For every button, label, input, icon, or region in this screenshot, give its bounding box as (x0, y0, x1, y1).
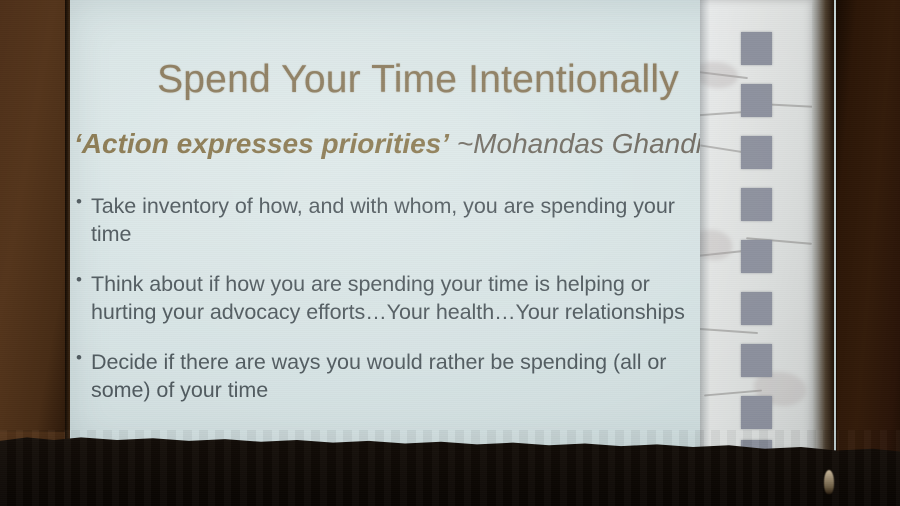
wall-panel-with-tiles (700, 0, 814, 452)
panel-tile (741, 136, 772, 169)
left-wall (0, 0, 70, 506)
bullet-item: Think about if how you are spending your… (76, 270, 716, 327)
subtitle-quote: ‘Action expresses priorities’ (74, 128, 449, 159)
panel-left-shadow (700, 0, 710, 452)
slide-bullet-list: Take inventory of how, and with whom, yo… (76, 192, 716, 425)
photo-scene: Spend Your Time Intentionally ‘Action ex… (0, 0, 900, 506)
slide-subtitle: ‘Action expresses priorities’ ~Mohandas … (74, 128, 794, 160)
panel-tile (741, 84, 772, 117)
slide-title: Spend Your Time Intentionally (68, 58, 768, 102)
panel-tile (741, 32, 772, 65)
bullet-item: Decide if there are ways you would rathe… (76, 348, 716, 405)
foreground-small-object (824, 470, 834, 494)
panel-tile (741, 344, 772, 377)
panel-tile (741, 396, 772, 429)
right-wall (833, 0, 900, 506)
bullet-item: Take inventory of how, and with whom, yo… (76, 192, 716, 249)
panel-tile (741, 292, 772, 325)
panel-tile (741, 188, 772, 221)
panel-right-edge (812, 0, 834, 452)
subtitle-attribution: ~Mohandas Ghandi (449, 128, 702, 159)
panel-tile (741, 240, 772, 273)
